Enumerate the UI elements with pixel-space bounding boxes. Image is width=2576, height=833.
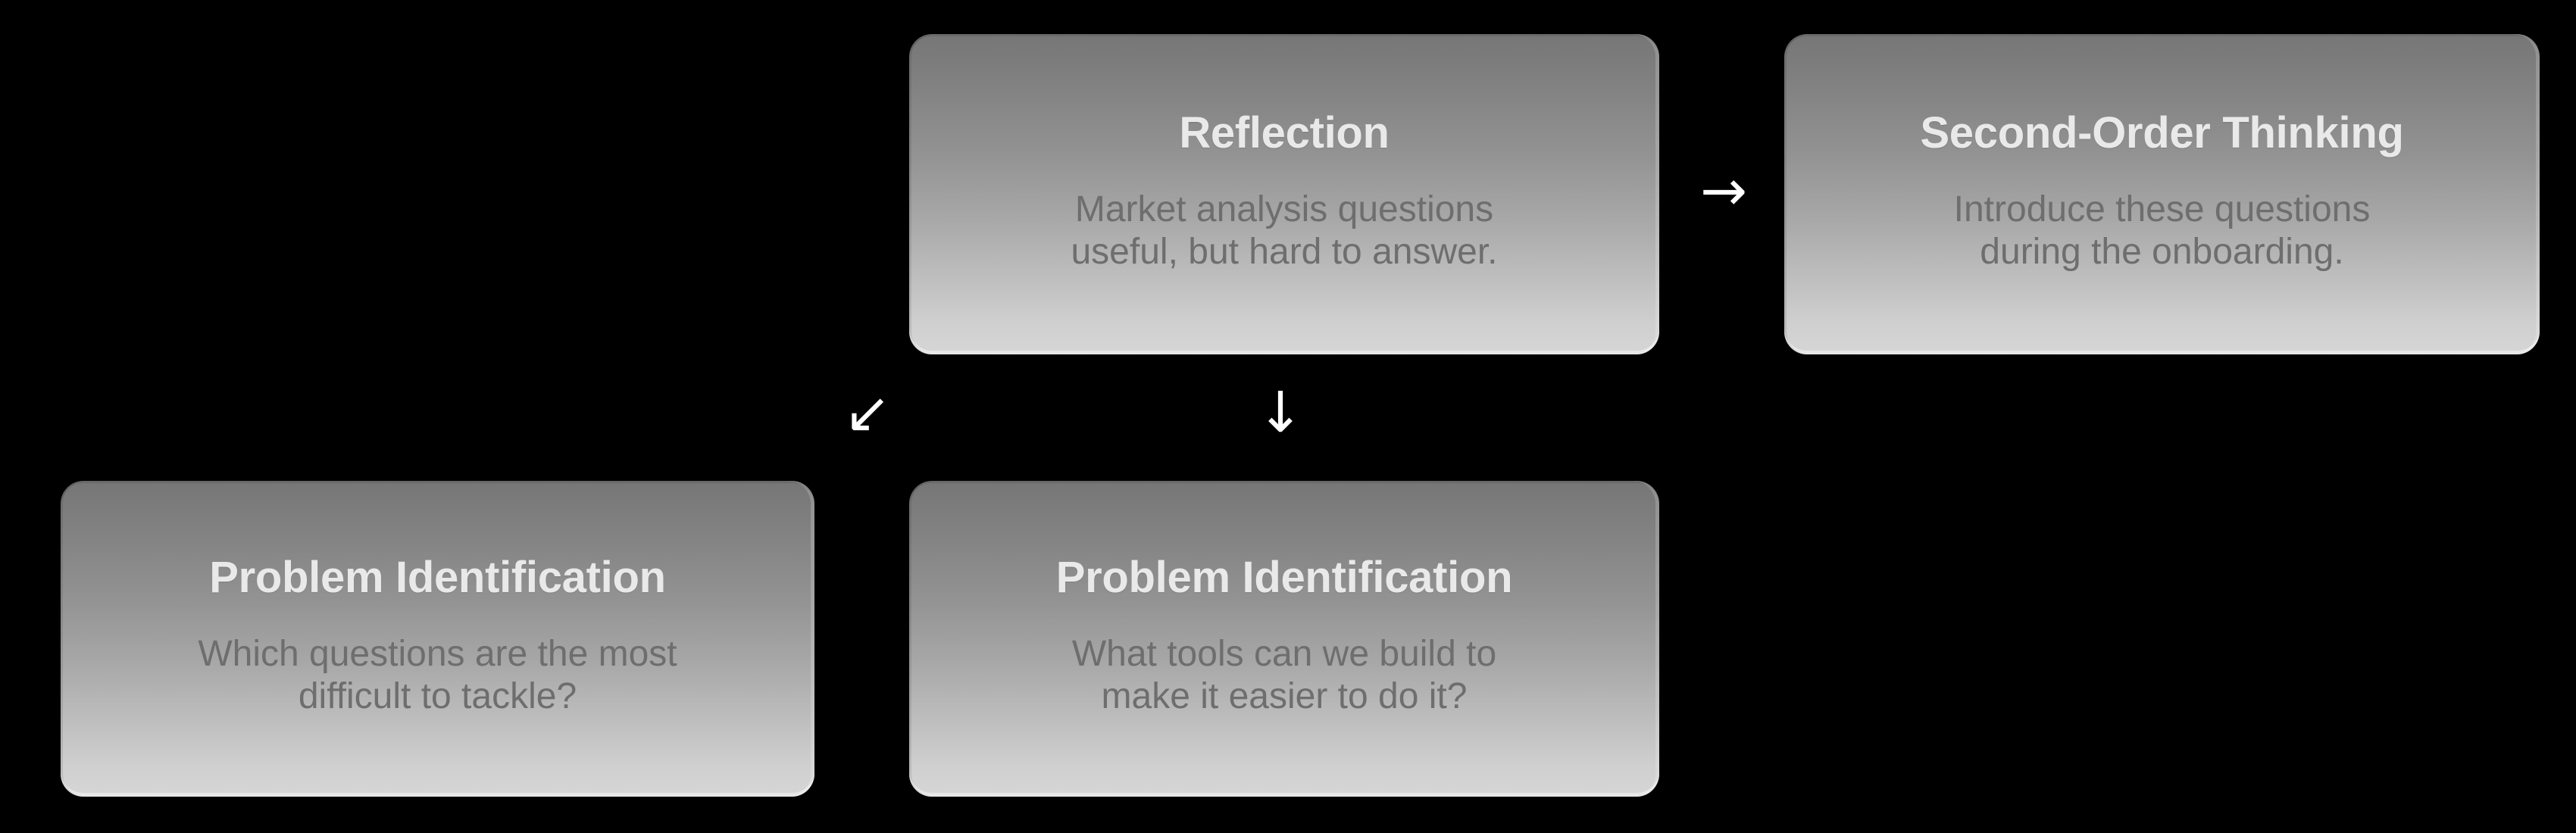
arrow-down-icon: ↓: [1246, 379, 1315, 447]
node-problem-identification-center[interactable]: Problem Identification What tools can we…: [909, 481, 1659, 797]
node-reflection-title: Reflection: [1179, 110, 1389, 156]
node-problem-identification-center-description: What tools can we build to make it easie…: [1072, 633, 1496, 719]
arrow-right-icon: →: [1674, 161, 1773, 221]
diagram-canvas: Reflection Market analysis questions use…: [0, 0, 2576, 833]
arrow-down-left-icon: ↙: [833, 379, 902, 447]
node-problem-identification-left-description: Which questions are the most difficult t…: [198, 633, 677, 719]
node-problem-identification-left[interactable]: Problem Identification Which questions a…: [61, 481, 814, 797]
node-problem-identification-left-description-line-1: Which questions are the most: [198, 633, 677, 676]
node-second-order-thinking[interactable]: Second-Order Thinking Introduce these qu…: [1784, 34, 2540, 354]
node-reflection-description: Market analysis questions useful, but ha…: [1071, 189, 1497, 274]
node-reflection-description-line-2: useful, but hard to answer.: [1071, 231, 1497, 274]
node-reflection[interactable]: Reflection Market analysis questions use…: [909, 34, 1659, 354]
node-second-order-thinking-description-line-2: during the onboarding.: [1954, 231, 2371, 274]
node-second-order-thinking-title: Second-Order Thinking: [1920, 110, 2403, 156]
node-problem-identification-center-title: Problem Identification: [1056, 554, 1512, 601]
node-problem-identification-center-description-line-1: What tools can we build to: [1072, 633, 1496, 676]
node-problem-identification-left-title: Problem Identification: [209, 554, 665, 601]
node-problem-identification-center-description-line-2: make it easier to do it?: [1072, 675, 1496, 719]
node-problem-identification-left-description-line-2: difficult to tackle?: [198, 675, 677, 719]
node-second-order-thinking-description: Introduce these questions during the onb…: [1954, 189, 2371, 274]
node-second-order-thinking-description-line-1: Introduce these questions: [1954, 189, 2371, 232]
node-reflection-description-line-1: Market analysis questions: [1071, 189, 1497, 232]
